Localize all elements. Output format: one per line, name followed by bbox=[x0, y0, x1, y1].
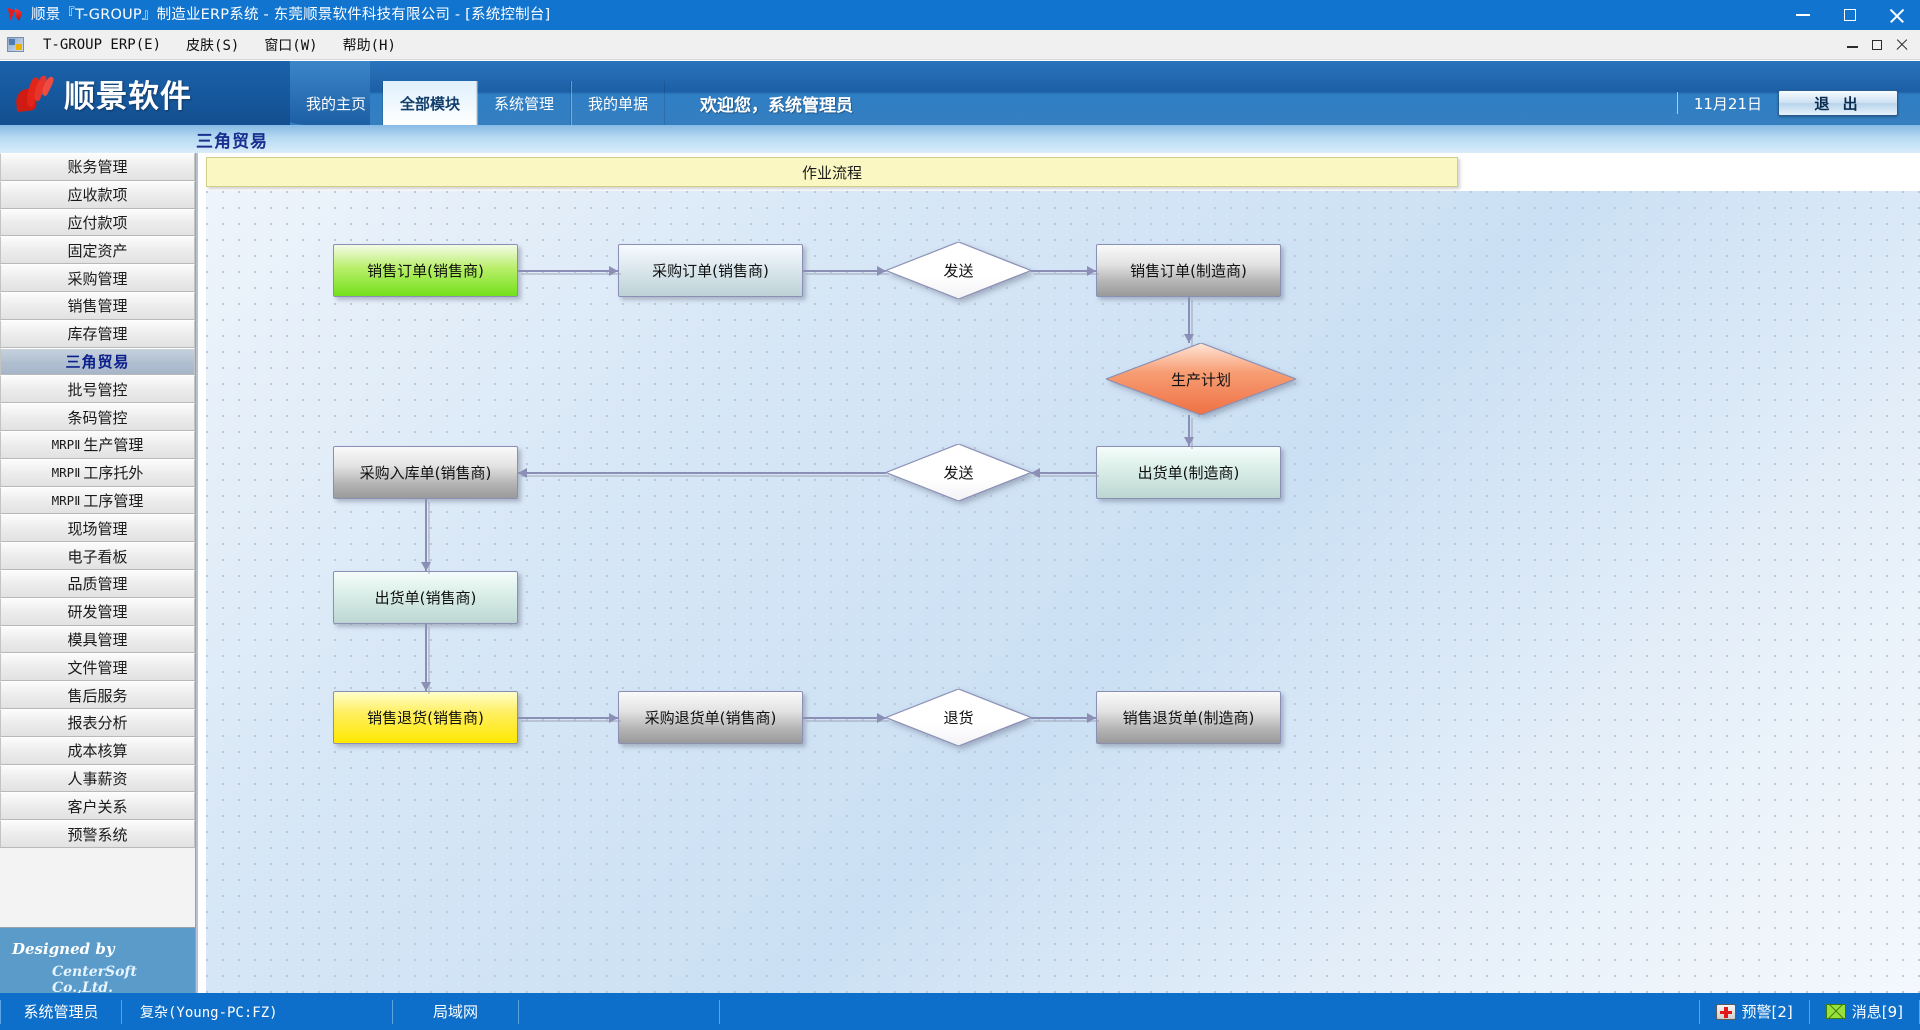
sidebar-filler bbox=[0, 848, 195, 927]
flow-edge-shadow bbox=[521, 720, 621, 722]
flow-node-n5[interactable]: 生产计划 bbox=[1106, 343, 1296, 415]
menu-item-skin[interactable]: 皮肤(S) bbox=[177, 32, 248, 58]
sidebar-item-22[interactable]: 人事薪资 bbox=[0, 765, 195, 793]
flow-edge-shadow bbox=[521, 273, 621, 275]
flow-node-label: 发送 bbox=[943, 260, 973, 281]
phoenix-flame-logo-icon bbox=[14, 73, 56, 113]
credit-designed-by: Designed by bbox=[12, 940, 115, 958]
sidebar-item-label: 采购管理 bbox=[67, 268, 127, 289]
sidebar-item-prefix: MRPⅡ bbox=[52, 493, 81, 508]
menu-item-help[interactable]: 帮助(H) bbox=[334, 32, 405, 58]
sidebar-item-12[interactable]: MRPⅡ工序管理 bbox=[0, 487, 195, 515]
shunjing-logo-icon bbox=[7, 6, 25, 24]
flow-arrow-down bbox=[1184, 334, 1194, 343]
sidebar-item-3[interactable]: 固定资产 bbox=[0, 236, 195, 264]
flow-edge bbox=[518, 717, 618, 719]
sidebar-item-23[interactable]: 客户关系 bbox=[0, 792, 195, 820]
flow-edge bbox=[425, 624, 427, 691]
mdi-window-controls bbox=[1847, 30, 1916, 60]
sidebar-item-label: 现场管理 bbox=[67, 518, 127, 539]
header-right-area: 11月21日 退 出 bbox=[1677, 81, 1898, 125]
sidebar-item-label: 账务管理 bbox=[67, 156, 127, 177]
sidebar-item-19[interactable]: 售后服务 bbox=[0, 681, 195, 709]
flow-node-label: 退货 bbox=[943, 707, 973, 728]
flow-node-n9[interactable]: 出货单(销售商) bbox=[333, 571, 518, 624]
flow-edge bbox=[425, 499, 427, 571]
sidebar-item-6[interactable]: 库存管理 bbox=[0, 320, 195, 348]
sidebar-item-prefix: MRPⅡ bbox=[52, 437, 81, 452]
sidebar-item-15[interactable]: 品质管理 bbox=[0, 570, 195, 598]
flow-arrow-right bbox=[609, 713, 618, 723]
flow-node-n1[interactable]: 销售订单(销售商) bbox=[333, 244, 518, 297]
tab-my-homepage[interactable]: 我的主页 bbox=[290, 81, 383, 125]
flow-edge-shadow bbox=[1034, 475, 1099, 477]
mdi-restore-button[interactable] bbox=[1872, 40, 1882, 50]
credit-company: CenterSoft Co.,Ltd. bbox=[52, 964, 195, 996]
flow-arrow-right bbox=[877, 266, 886, 276]
first-aid-alert-icon bbox=[1716, 1004, 1736, 1020]
status-divider bbox=[518, 1000, 519, 1024]
menu-bar: T-GROUP ERP(E) 皮肤(S) 窗口(W) 帮助(H) bbox=[0, 30, 1920, 60]
sidebar-item-label: 批号管控 bbox=[67, 379, 127, 400]
flow-banner: 作业流程 bbox=[206, 157, 1458, 187]
sidebar-item-0[interactable]: 账务管理 bbox=[0, 153, 195, 181]
tab-my-documents[interactable]: 我的单据 bbox=[571, 81, 665, 125]
sidebar-item-prefix: MRPⅡ bbox=[52, 465, 81, 480]
flow-edge-shadow bbox=[521, 475, 889, 477]
status-bar: 系统管理员 复杂(Young-PC:FZ) 局域网 预警[2] 消息[9] bbox=[0, 993, 1920, 1030]
sidebar-item-label: 客户关系 bbox=[67, 796, 127, 817]
flow-node-n8[interactable]: 采购入库单(销售商) bbox=[333, 446, 518, 499]
tab-all-modules[interactable]: 全部模块 bbox=[383, 81, 477, 125]
welcome-message: 欢迎您，系统管理员 bbox=[700, 81, 853, 125]
status-message-label: 消息[9] bbox=[1852, 1001, 1903, 1022]
designer-credit: Designed by CenterSoft Co.,Ltd. bbox=[0, 927, 195, 993]
header-divider bbox=[1677, 92, 1678, 114]
sidebar-item-20[interactable]: 报表分析 bbox=[0, 709, 195, 737]
sidebar-item-17[interactable]: 模具管理 bbox=[0, 626, 195, 654]
sidebar-item-21[interactable]: 成本核算 bbox=[0, 737, 195, 765]
mdi-minimize-button[interactable] bbox=[1847, 46, 1858, 47]
app-header: 顺景软件 我的主页 全部模块 系统管理 我的单据 欢迎您，系统管理员 11月21… bbox=[0, 61, 1920, 125]
status-network: 局域网 bbox=[393, 1001, 518, 1022]
sidebar-item-8[interactable]: 批号管控 bbox=[0, 375, 195, 403]
sidebar-item-11[interactable]: MRPⅡ工序托外 bbox=[0, 459, 195, 487]
flow-node-n3[interactable]: 发送 bbox=[886, 242, 1031, 299]
sidebar-item-label: 预警系统 bbox=[67, 824, 127, 845]
app-module-icon bbox=[7, 37, 24, 52]
flow-node-n10[interactable]: 销售退货(销售商) bbox=[333, 691, 518, 744]
flow-arrow-left bbox=[518, 468, 527, 478]
flow-node-label: 销售退货(销售商) bbox=[367, 707, 484, 728]
status-user: 系统管理员 bbox=[1, 1001, 121, 1022]
sidebar-item-18[interactable]: 文件管理 bbox=[0, 653, 195, 681]
status-divider bbox=[719, 1000, 720, 1024]
menu-item-erp[interactable]: T-GROUP ERP(E) bbox=[34, 34, 170, 56]
status-alert[interactable]: 预警[2] bbox=[1700, 1001, 1809, 1022]
flow-node-label: 采购订单(销售商) bbox=[652, 260, 769, 281]
flow-edge bbox=[518, 472, 886, 474]
sidebar-item-24[interactable]: 预警系统 bbox=[0, 820, 195, 848]
flow-arrow-right bbox=[1087, 266, 1096, 276]
sidebar-item-7[interactable]: 三角贸易 bbox=[0, 348, 195, 376]
sidebar-item-label: 三角贸易 bbox=[65, 351, 129, 372]
sidebar-item-label: 销售管理 bbox=[67, 295, 127, 316]
window-controls bbox=[1779, 0, 1920, 30]
flow-node-n12[interactable]: 退货 bbox=[886, 689, 1031, 746]
page-title-strip bbox=[0, 125, 1920, 153]
flow-edge bbox=[803, 717, 886, 719]
sidebar-item-label: 库存管理 bbox=[67, 323, 127, 344]
flow-arrow-right bbox=[877, 713, 886, 723]
flow-node-n11[interactable]: 采购退货单(销售商) bbox=[618, 691, 803, 744]
flow-edge bbox=[803, 270, 886, 272]
tab-system-management[interactable]: 系统管理 bbox=[477, 81, 571, 125]
flow-arrow-right bbox=[609, 266, 618, 276]
brand-area: 顺景软件 bbox=[0, 61, 290, 125]
flowchart-canvas: 销售订单(销售商)采购订单(销售商)发送销售订单(制造商)生产计划出货单(制造商… bbox=[206, 191, 1920, 993]
flow-arrow-left bbox=[1031, 468, 1040, 478]
flow-arrow-down bbox=[421, 682, 431, 691]
window-close-button[interactable] bbox=[1873, 0, 1920, 30]
sidebar-item-label: 固定资产 bbox=[67, 240, 127, 261]
sidebar-item-list: 账务管理应收款项应付款项固定资产采购管理销售管理库存管理三角贸易批号管控条码管控… bbox=[0, 153, 195, 848]
sidebar-item-label: 成本核算 bbox=[67, 740, 127, 761]
sidebar-item-label: 电子看板 bbox=[67, 546, 127, 567]
sidebar-item-label: 应付款项 bbox=[67, 212, 127, 233]
module-sidebar: 账务管理应收款项应付款项固定资产采购管理销售管理库存管理三角贸易批号管控条码管控… bbox=[0, 153, 196, 993]
flow-node-n2[interactable]: 采购订单(销售商) bbox=[618, 244, 803, 297]
sidebar-item-label: 模具管理 bbox=[67, 629, 127, 650]
sidebar-item-label: 工序托外 bbox=[83, 462, 143, 483]
sidebar-item-16[interactable]: 研发管理 bbox=[0, 598, 195, 626]
flow-node-label: 采购退货单(销售商) bbox=[645, 707, 777, 728]
sidebar-item-label: 报表分析 bbox=[67, 712, 127, 733]
sidebar-item-label: 生产管理 bbox=[83, 434, 143, 455]
flow-node-n4[interactable]: 销售订单(制造商) bbox=[1096, 244, 1281, 297]
flow-node-label: 发送 bbox=[943, 462, 973, 483]
sidebar-item-label: 研发管理 bbox=[67, 601, 127, 622]
sidebar-item-label: 工序管理 bbox=[83, 490, 143, 511]
flow-edge bbox=[518, 270, 618, 272]
main-content-area: 作业流程 销售订单(销售商)采购订单(销售商)发送销售订单(制造商)生产计划出货… bbox=[196, 153, 1920, 993]
window-titlebar: 顺景『T-GROUP』制造业ERP系统 - 东莞顺景软件科技有限公司 - [系统… bbox=[0, 0, 1920, 30]
mdi-close-button[interactable] bbox=[1896, 39, 1908, 51]
sidebar-item-9[interactable]: 条码管控 bbox=[0, 403, 195, 431]
sidebar-item-13[interactable]: 现场管理 bbox=[0, 514, 195, 542]
sidebar-item-label: 人事薪资 bbox=[67, 768, 127, 789]
sidebar-item-label: 品质管理 bbox=[67, 573, 127, 594]
brand-name: 顺景软件 bbox=[64, 71, 192, 116]
menu-item-window[interactable]: 窗口(W) bbox=[255, 32, 326, 58]
page-title: 三角贸易 bbox=[196, 127, 268, 152]
header-date: 11月21日 bbox=[1694, 93, 1762, 114]
sidebar-item-14[interactable]: 电子看板 bbox=[0, 542, 195, 570]
sidebar-item-2[interactable]: 应付款项 bbox=[0, 209, 195, 237]
envelope-icon bbox=[1826, 1004, 1846, 1019]
flow-arrow-down bbox=[421, 562, 431, 571]
flow-node-label: 出货单(制造商) bbox=[1138, 462, 1240, 483]
flow-arrow-right bbox=[1087, 713, 1096, 723]
window-title: 顺景『T-GROUP』制造业ERP系统 - 东莞顺景软件科技有限公司 - [系统… bbox=[31, 0, 550, 30]
flow-node-label: 销售退货单(制造商) bbox=[1123, 707, 1255, 728]
flow-node-label: 销售订单(制造商) bbox=[1130, 260, 1247, 281]
exit-button[interactable]: 退 出 bbox=[1778, 90, 1898, 116]
flow-arrow-down bbox=[1184, 437, 1194, 446]
status-message[interactable]: 消息[9] bbox=[1810, 1001, 1919, 1022]
flow-node-label: 销售订单(销售商) bbox=[367, 260, 484, 281]
sidebar-item-10[interactable]: MRPⅡ生产管理 bbox=[0, 431, 195, 459]
flow-node-n6[interactable]: 出货单(制造商) bbox=[1096, 446, 1281, 499]
sidebar-item-5[interactable]: 销售管理 bbox=[0, 292, 195, 320]
flow-node-label: 生产计划 bbox=[1171, 369, 1231, 390]
flow-edge bbox=[1031, 472, 1096, 474]
window-minimize-button[interactable] bbox=[1779, 0, 1826, 30]
erp-application-window: 顺景『T-GROUP』制造业ERP系统 - 东莞顺景软件科技有限公司 - [系统… bbox=[0, 0, 1920, 1030]
main-nav-tabs: 我的主页 全部模块 系统管理 我的单据 bbox=[290, 81, 665, 125]
window-maximize-button[interactable] bbox=[1826, 0, 1873, 30]
status-machine: 复杂(Young-PC:FZ) bbox=[122, 1002, 392, 1022]
status-right-area: 预警[2] 消息[9] bbox=[1699, 1000, 1920, 1024]
flow-node-n13[interactable]: 销售退货单(制造商) bbox=[1096, 691, 1281, 744]
sidebar-item-label: 文件管理 bbox=[67, 657, 127, 678]
sidebar-item-label: 售后服务 bbox=[67, 685, 127, 706]
sidebar-item-label: 应收款项 bbox=[67, 184, 127, 205]
flow-node-label: 采购入库单(销售商) bbox=[360, 462, 492, 483]
flow-node-label: 出货单(销售商) bbox=[375, 587, 477, 608]
sidebar-item-1[interactable]: 应收款项 bbox=[0, 181, 195, 209]
sidebar-item-4[interactable]: 采购管理 bbox=[0, 264, 195, 292]
status-alert-label: 预警[2] bbox=[1742, 1001, 1793, 1022]
sidebar-item-label: 条码管控 bbox=[67, 407, 127, 428]
flow-node-n7[interactable]: 发送 bbox=[886, 444, 1031, 501]
